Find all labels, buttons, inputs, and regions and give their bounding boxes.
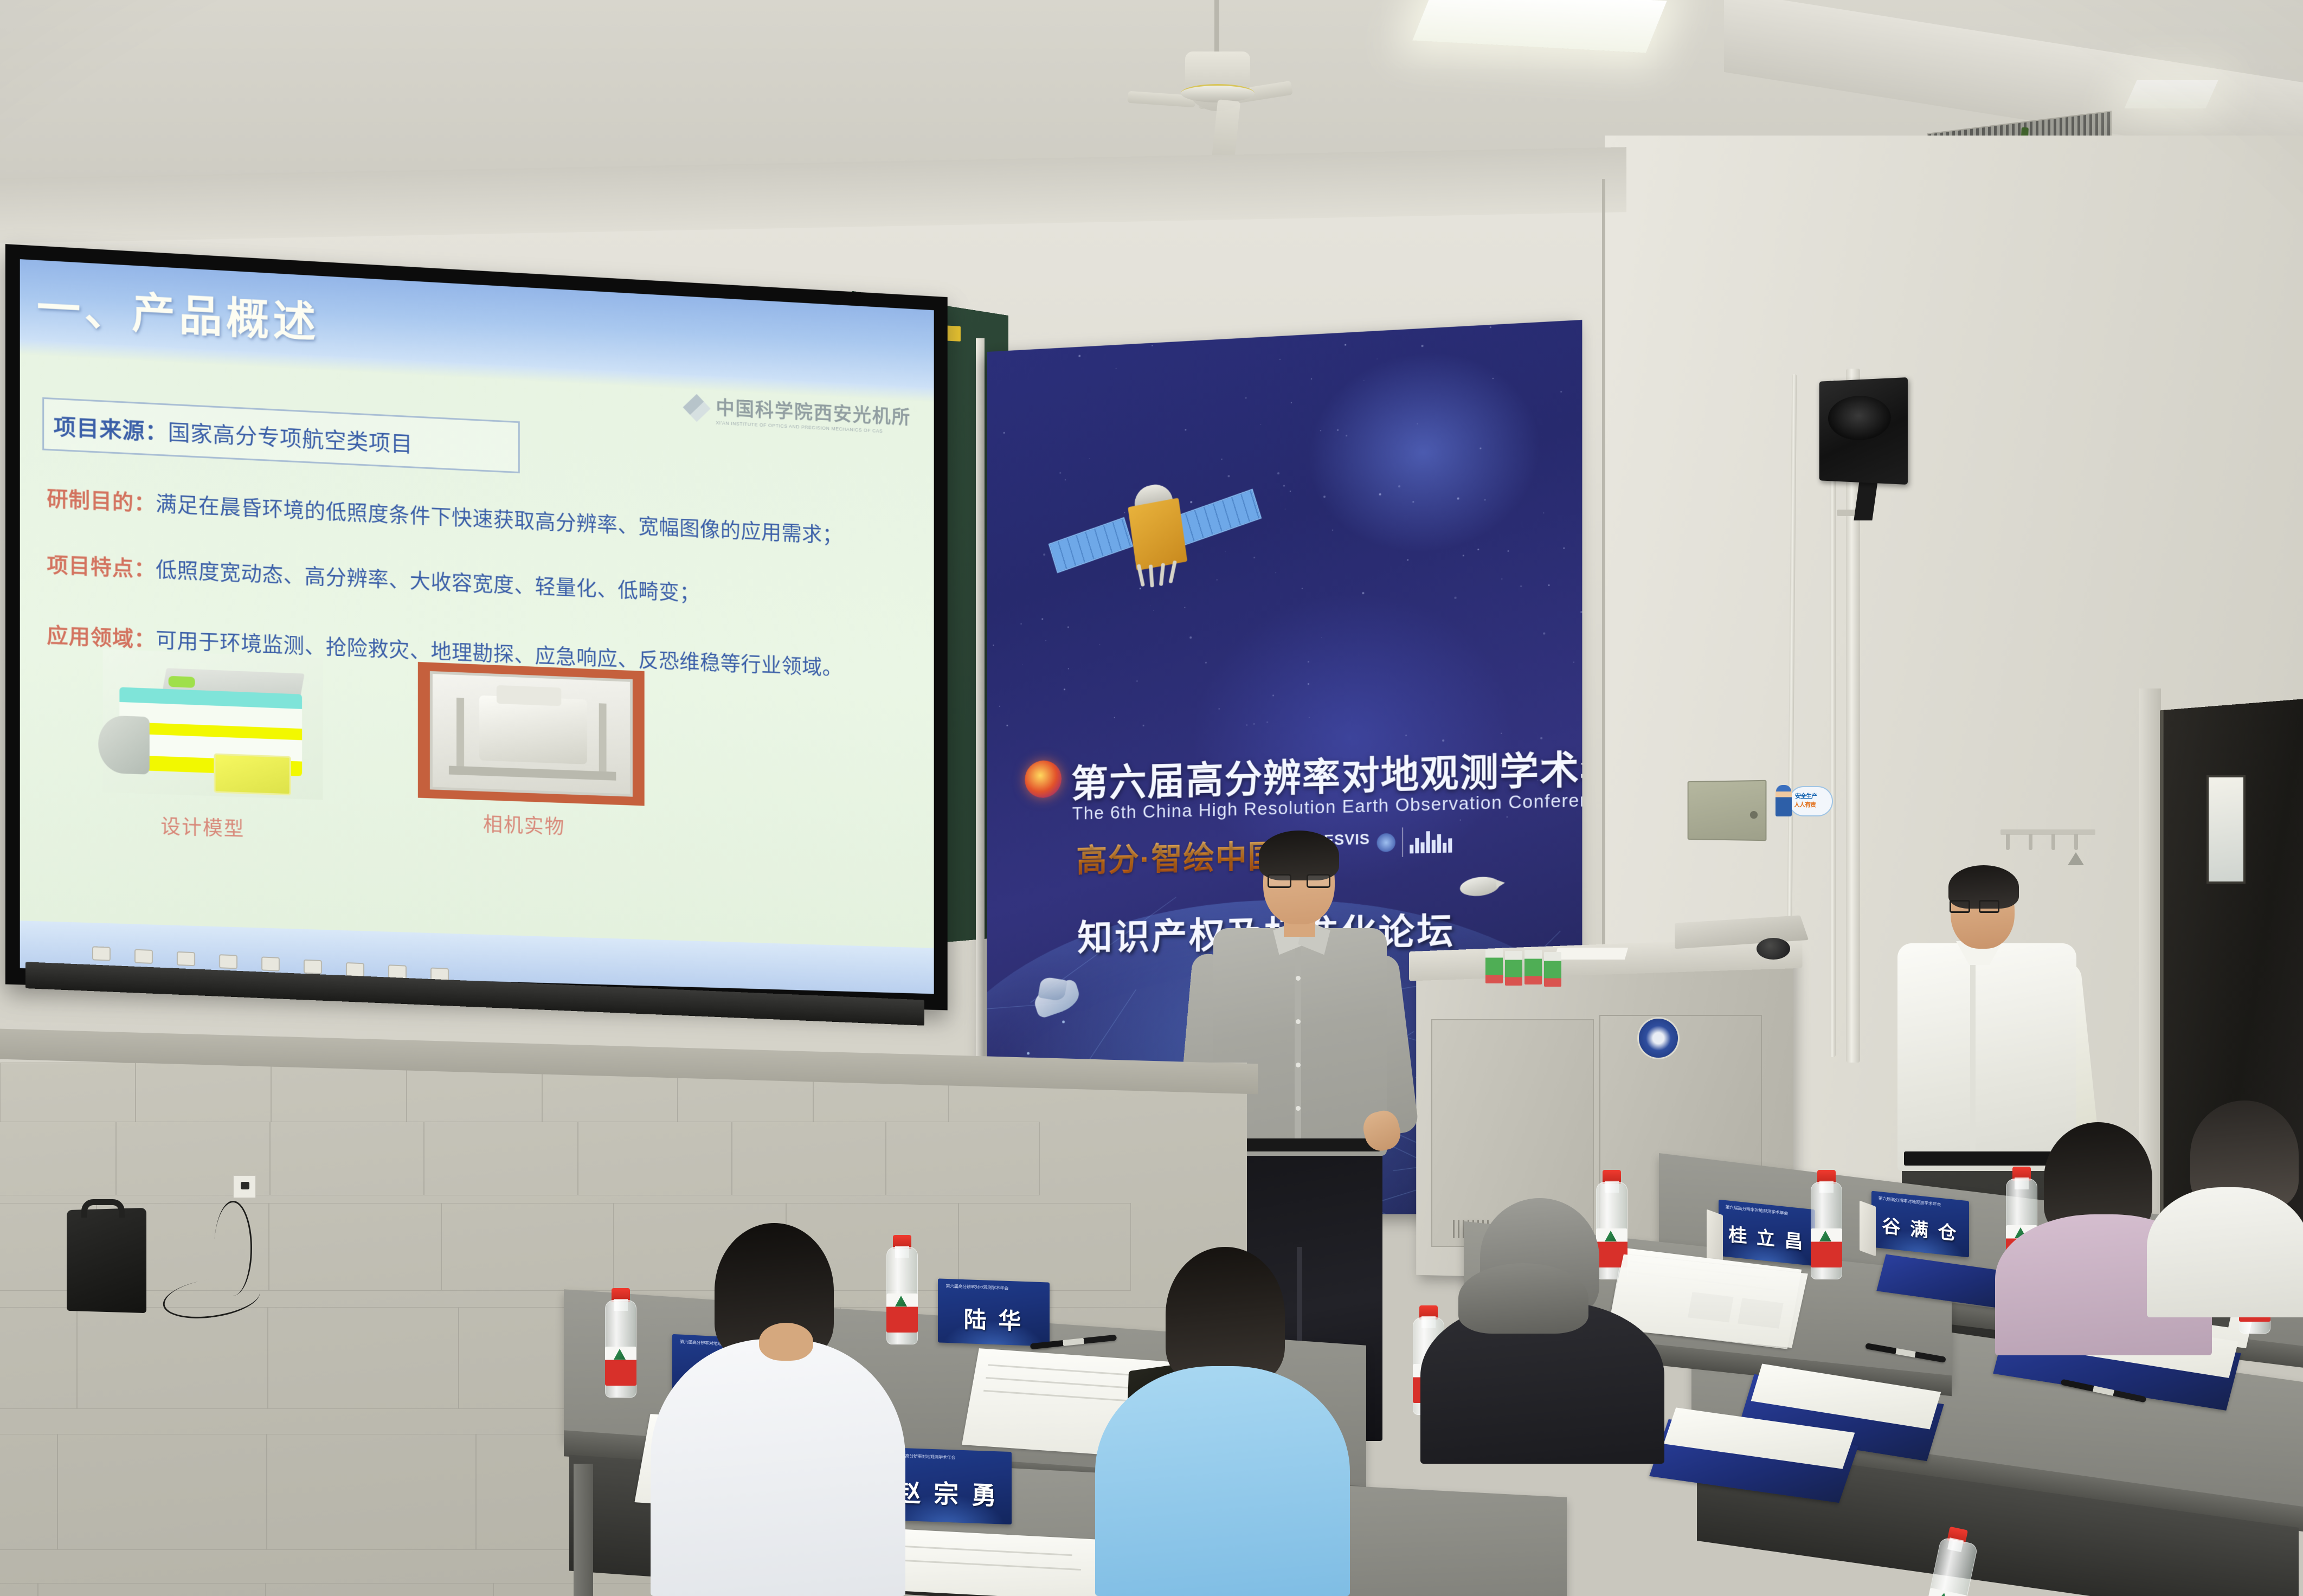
podium-emblem: [1637, 1017, 1680, 1059]
presentation-slide: 一、产品概述 中国科学院西安光机所 XI'AN INSTITUTE OF OPT…: [20, 259, 934, 994]
presenter-hair: [1259, 831, 1339, 880]
observer-glasses-icon: [1950, 900, 1999, 913]
banner-slogan: 高分·智绘中国: [1076, 831, 1280, 880]
attendee-shoulders: [2147, 1187, 2303, 1317]
water-bottle: [1811, 1182, 1842, 1279]
presenter-glasses-icon: [1268, 874, 1330, 888]
name-placard: 第六届高分辨率对地观测学术年会 陆 华: [938, 1278, 1050, 1346]
projection-screen: 一、产品概述 中国科学院西安光机所 XI'AN INSTITUTE OF OPT…: [5, 244, 948, 1010]
portable-amplifier: [67, 1208, 146, 1313]
slide-bullet-purpose: 研制目的：满足在晨昏环境的低照度条件下快速获取高分辨率、宽幅图像的应用需求；: [47, 481, 842, 549]
logo-divider: [1402, 827, 1403, 857]
university-badge-icon: [1376, 833, 1395, 852]
bullet-label: 项目特点：: [47, 554, 156, 581]
bullet-body: 满足在晨昏环境的低照度条件下快速获取高分辨率、宽幅图像的应用需求；: [156, 492, 842, 547]
slide-bullet-features: 项目特点：低照度宽动态、高分辨率、大收容宽度、轻量化、低畸变；: [47, 548, 700, 606]
satellite-illustration: [1039, 472, 1263, 589]
juice-carton: [1524, 950, 1542, 984]
safety-sticker-line1: 安全生产: [1795, 791, 1817, 800]
coat-hook: [2074, 834, 2078, 850]
name-placard: 第六届高分辨率对地观测学术年会 谷 满 仓: [1871, 1191, 1969, 1258]
microphone-windscreen: [1757, 938, 1790, 960]
water-bottle: [605, 1300, 636, 1398]
slide-figure-cad-model: [103, 649, 323, 800]
ceiling-light-panel: [2124, 80, 2218, 108]
institute-logo-mark: [683, 393, 711, 422]
bullet-label: 项目来源：: [54, 415, 168, 445]
conference-room-photo: 安全生产 人人有责 ▮ 一、产品概述 中国科学院西安光机所 XI'AN INST…: [0, 0, 2303, 1596]
coat-hook: [2006, 834, 2010, 850]
door-window: [2206, 775, 2246, 884]
figure-caption-model: 设计模型: [160, 810, 245, 842]
coat-hook: [2051, 834, 2055, 850]
placard-header: 第六届高分辨率对地观测学术年会: [1725, 1204, 1788, 1217]
wall-speaker: [1819, 377, 1908, 485]
placard-side: [1860, 1201, 1876, 1257]
safety-sticker-line2: 人人有责: [1794, 800, 1816, 809]
placard-name: 陆 华: [938, 1301, 1050, 1337]
attendee-hair: [1166, 1247, 1285, 1382]
observer-belt: [1904, 1151, 2067, 1166]
bullet-body: 低照度宽动态、高分辨率、大收容宽度、轻量化、低畸变；: [156, 558, 700, 605]
electrical-panel-box[interactable]: [1688, 780, 1767, 841]
power-cable: [214, 1201, 252, 1296]
slide-figure-camera-photo: [418, 662, 645, 806]
bullet-label: 研制目的：: [47, 487, 156, 516]
placard-header: 第六届高分辨率对地观测学术年会: [945, 1283, 1008, 1291]
attendee-shoulders: [1095, 1366, 1350, 1596]
bullet-label: 应用领域：: [47, 624, 156, 652]
juice-carton: [1485, 949, 1503, 983]
juice-carton: [1544, 952, 1561, 987]
safety-sticker: 安全生产 人人有责: [1776, 781, 1832, 823]
podium-paper: [1554, 948, 1628, 960]
coat-hook: [2029, 834, 2032, 850]
coat-hook-rail: [2000, 829, 2095, 835]
ceiling-fan-rod: [1214, 0, 1219, 60]
attendee-neck: [759, 1323, 813, 1361]
skyline-icon: [1410, 829, 1452, 853]
placard-name: 桂 立 昌: [1719, 1219, 1815, 1256]
table-leg: [574, 1464, 593, 1596]
amplifier-handle: [81, 1199, 125, 1218]
attendee-hair: [970, 1513, 1117, 1596]
juice-carton: [1505, 951, 1522, 986]
warning-triangle-sign: [2066, 851, 2088, 871]
placard-side: [1707, 1209, 1723, 1265]
name-placard: 第六届高分辨率对地观测学术年会 桂 立 昌: [1719, 1200, 1815, 1266]
wall-outlet[interactable]: [233, 1175, 256, 1198]
attendee-hair: [1458, 1263, 1588, 1334]
figure-caption-photo: 相机实物: [483, 809, 565, 840]
observer-torso: [1897, 943, 2076, 1171]
attendee-shoulders: [651, 1339, 905, 1596]
placard-name: 谷 满 仓: [1871, 1210, 1969, 1247]
placard-header: 第六届高分辨率对地观测学术年会: [1879, 1195, 1941, 1208]
ceiling-fan-ring: [1181, 84, 1255, 102]
water-bottle: [886, 1247, 918, 1344]
wall-corner: [1602, 179, 1605, 992]
